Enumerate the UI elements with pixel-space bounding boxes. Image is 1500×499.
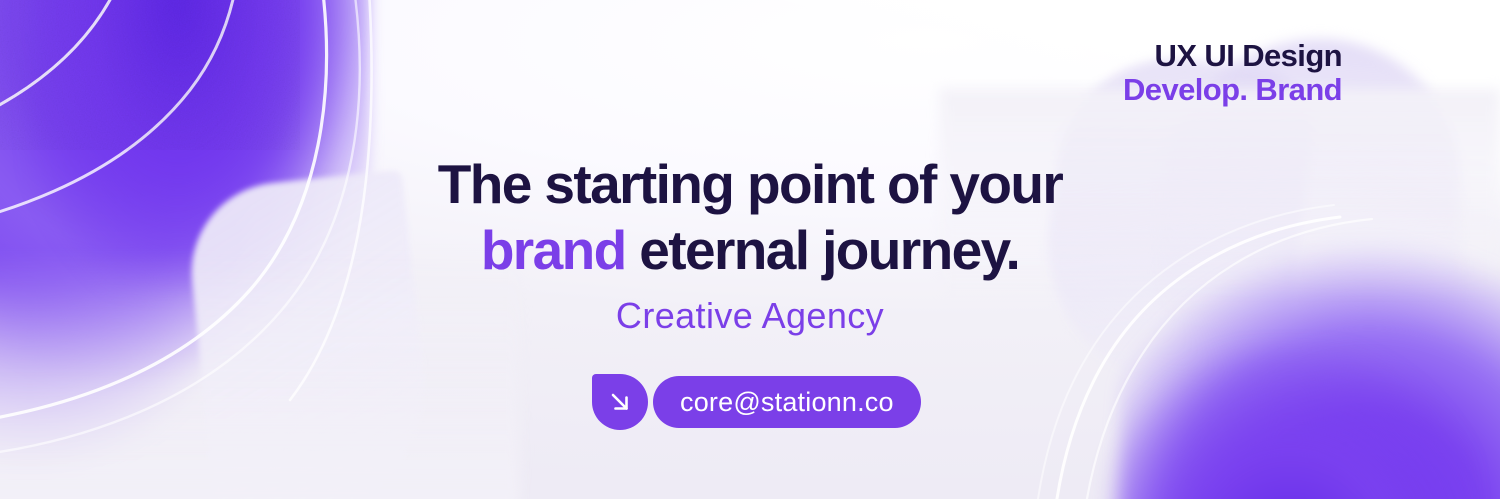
- headline-line-2-rest: eternal journey.: [626, 219, 1020, 281]
- contact-row[interactable]: core@stationn.co: [592, 374, 921, 430]
- arrow-down-right-icon[interactable]: [592, 374, 648, 430]
- tagline-line-2: Develop. Brand: [1123, 74, 1342, 106]
- tagline: UX UI Design Develop. Brand: [1123, 40, 1342, 106]
- headline-line-2: brand eternal journey.: [0, 223, 1500, 278]
- banner-content: UX UI Design Develop. Brand The starting…: [0, 0, 1500, 499]
- tagline-line-1: UX UI Design: [1123, 40, 1342, 72]
- banner: UX UI Design Develop. Brand The starting…: [0, 0, 1500, 499]
- headline-line-1: The starting point of your: [0, 157, 1500, 212]
- email-label: core@stationn.co: [680, 387, 894, 418]
- subtitle: Creative Agency: [0, 295, 1500, 337]
- email-button[interactable]: core@stationn.co: [653, 376, 921, 428]
- headline-accent-word: brand: [481, 219, 626, 281]
- page-title: The starting point of your brand eternal…: [0, 157, 1500, 278]
